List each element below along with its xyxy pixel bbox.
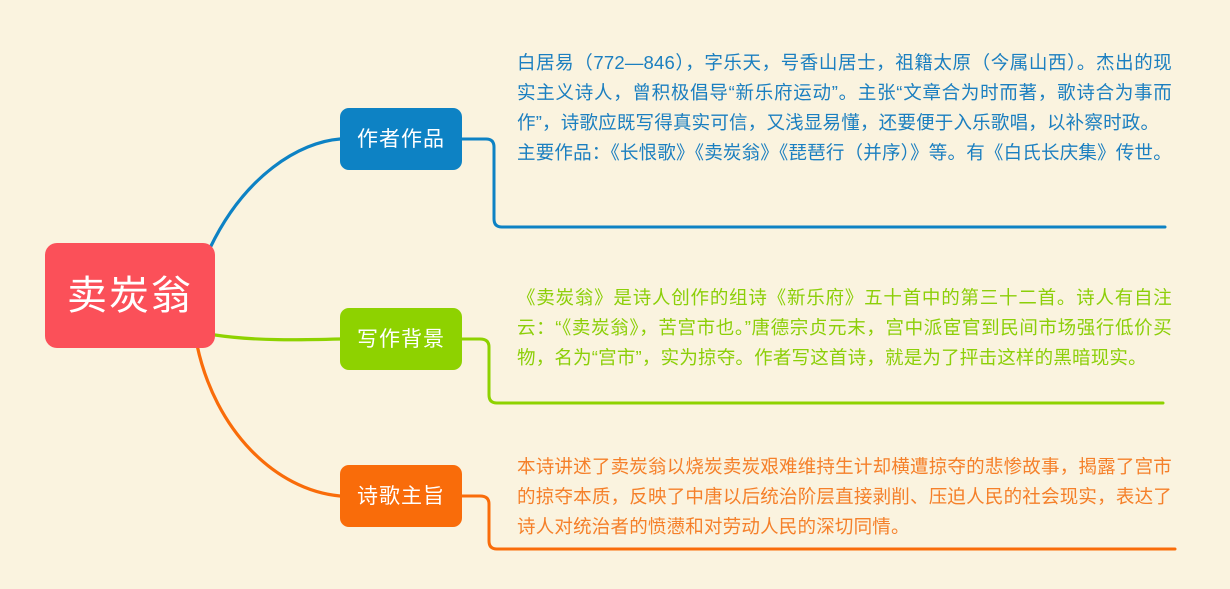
connector-curve-theme — [197, 345, 340, 496]
branch-body-poem-theme-paragraph-1: 本诗讲述了卖炭翁以烧炭卖炭艰难维持生计却横遭掠夺的悲惨故事，揭露了宫市的掠夺本质… — [517, 452, 1172, 542]
branch-label-author-works[interactable]: 作者作品 — [340, 108, 462, 170]
branch-body-poem-theme: 本诗讲述了卖炭翁以烧炭卖炭艰难维持生计却横遭掠夺的悲惨故事，揭露了宫市的掠夺本质… — [517, 452, 1172, 542]
root-node[interactable]: 卖炭翁 — [45, 243, 215, 348]
branch-label-writing-background-text: 写作背景 — [357, 329, 445, 350]
root-node-label: 卖炭翁 — [67, 276, 193, 316]
connector-curve-author — [210, 139, 340, 248]
mindmap-canvas: 卖炭翁 作者作品 白居易（772—846），字乐天，号香山居士，祖籍太原（今属山… — [0, 0, 1230, 589]
branch-label-poem-theme[interactable]: 诗歌主旨 — [340, 465, 462, 527]
branch-label-writing-background[interactable]: 写作背景 — [340, 308, 462, 370]
branch-body-writing-background: 《卖炭翁》是诗人创作的组诗《新乐府》五十首中的第三十二首。诗人有自注云：“《卖炭… — [517, 283, 1172, 373]
connector-curve-background — [215, 335, 340, 340]
branch-label-poem-theme-text: 诗歌主旨 — [357, 486, 445, 507]
branch-body-author-works-paragraph-2: 主要作品：《长恨歌》《卖炭翁》《琵琶行（并序）》等。有《白氏长庆集》传世。 — [517, 138, 1172, 168]
branch-body-author-works-paragraph-1: 白居易（772—846），字乐天，号香山居士，祖籍太原（今属山西）。杰出的现实主… — [517, 48, 1172, 138]
branch-body-writing-background-paragraph-1: 《卖炭翁》是诗人创作的组诗《新乐府》五十首中的第三十二首。诗人有自注云：“《卖炭… — [517, 283, 1172, 373]
branch-label-author-works-text: 作者作品 — [357, 129, 445, 150]
branch-body-author-works: 白居易（772—846），字乐天，号香山居士，祖籍太原（今属山西）。杰出的现实主… — [517, 48, 1172, 168]
